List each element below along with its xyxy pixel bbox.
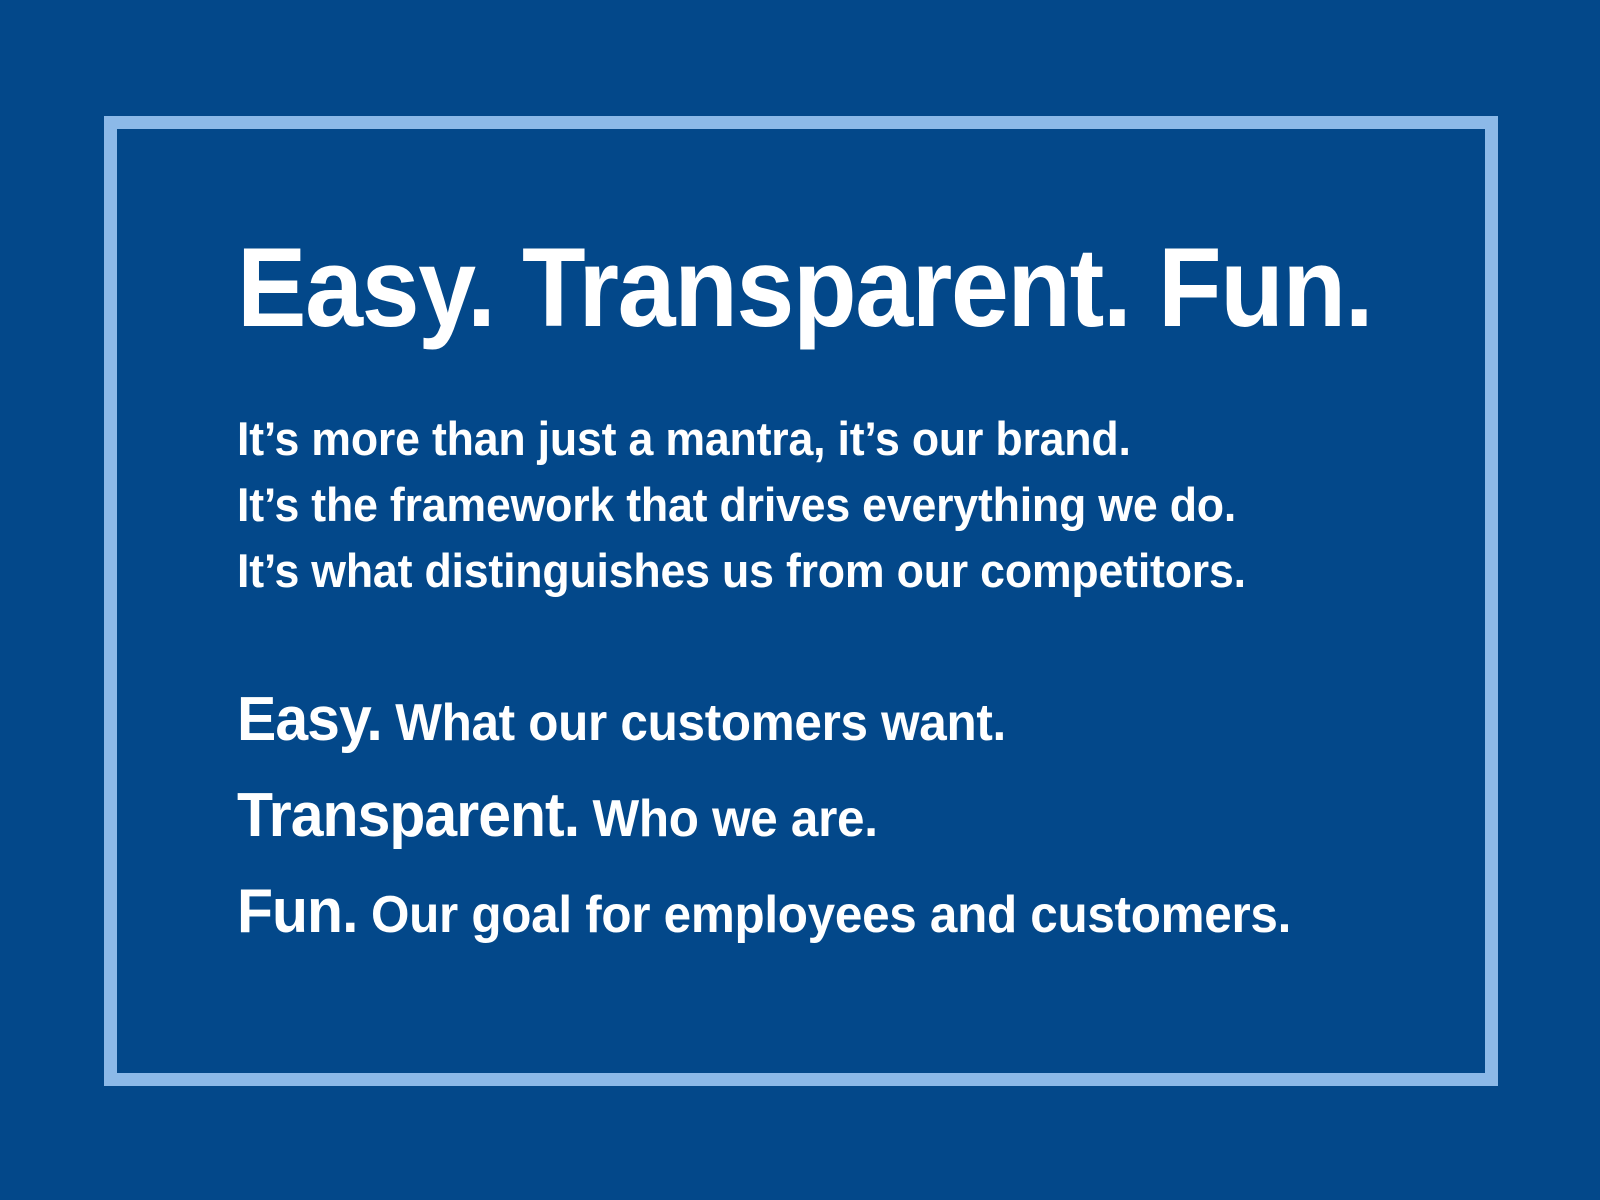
page-title: Easy. Transparent. Fun. <box>237 232 1353 344</box>
statement-description-easy: What our customers want. <box>382 694 1006 752</box>
intro-paragraph: It’s more than just a mantra, it’s our b… <box>237 406 1437 604</box>
slide-canvas: Easy. Transparent. Fun. It’s more than j… <box>0 0 1600 1200</box>
intro-line-1: It’s more than just a mantra, it’s our b… <box>237 406 1377 472</box>
intro-line-3: It’s what distinguishes us from our comp… <box>237 538 1377 604</box>
statement-description-transparent: Who we are. <box>579 790 878 848</box>
statement-term-transparent: Transparent. <box>237 781 579 850</box>
statement-description-fun: Our goal for employees and customers. <box>358 886 1292 944</box>
statement-item-transparent: Transparent. Who we are. <box>237 776 1377 872</box>
statement-item-easy: Easy. What our customers want. <box>237 680 1377 776</box>
slide-content: Easy. Transparent. Fun. It’s more than j… <box>237 232 1437 968</box>
statement-term-easy: Easy. <box>237 685 382 754</box>
statement-list: Easy. What our customers want. Transpare… <box>237 680 1437 968</box>
statement-item-fun: Fun. Our goal for employees and customer… <box>237 872 1377 968</box>
statement-term-fun: Fun. <box>237 877 358 946</box>
intro-line-2: It’s the framework that drives everythin… <box>237 472 1377 538</box>
